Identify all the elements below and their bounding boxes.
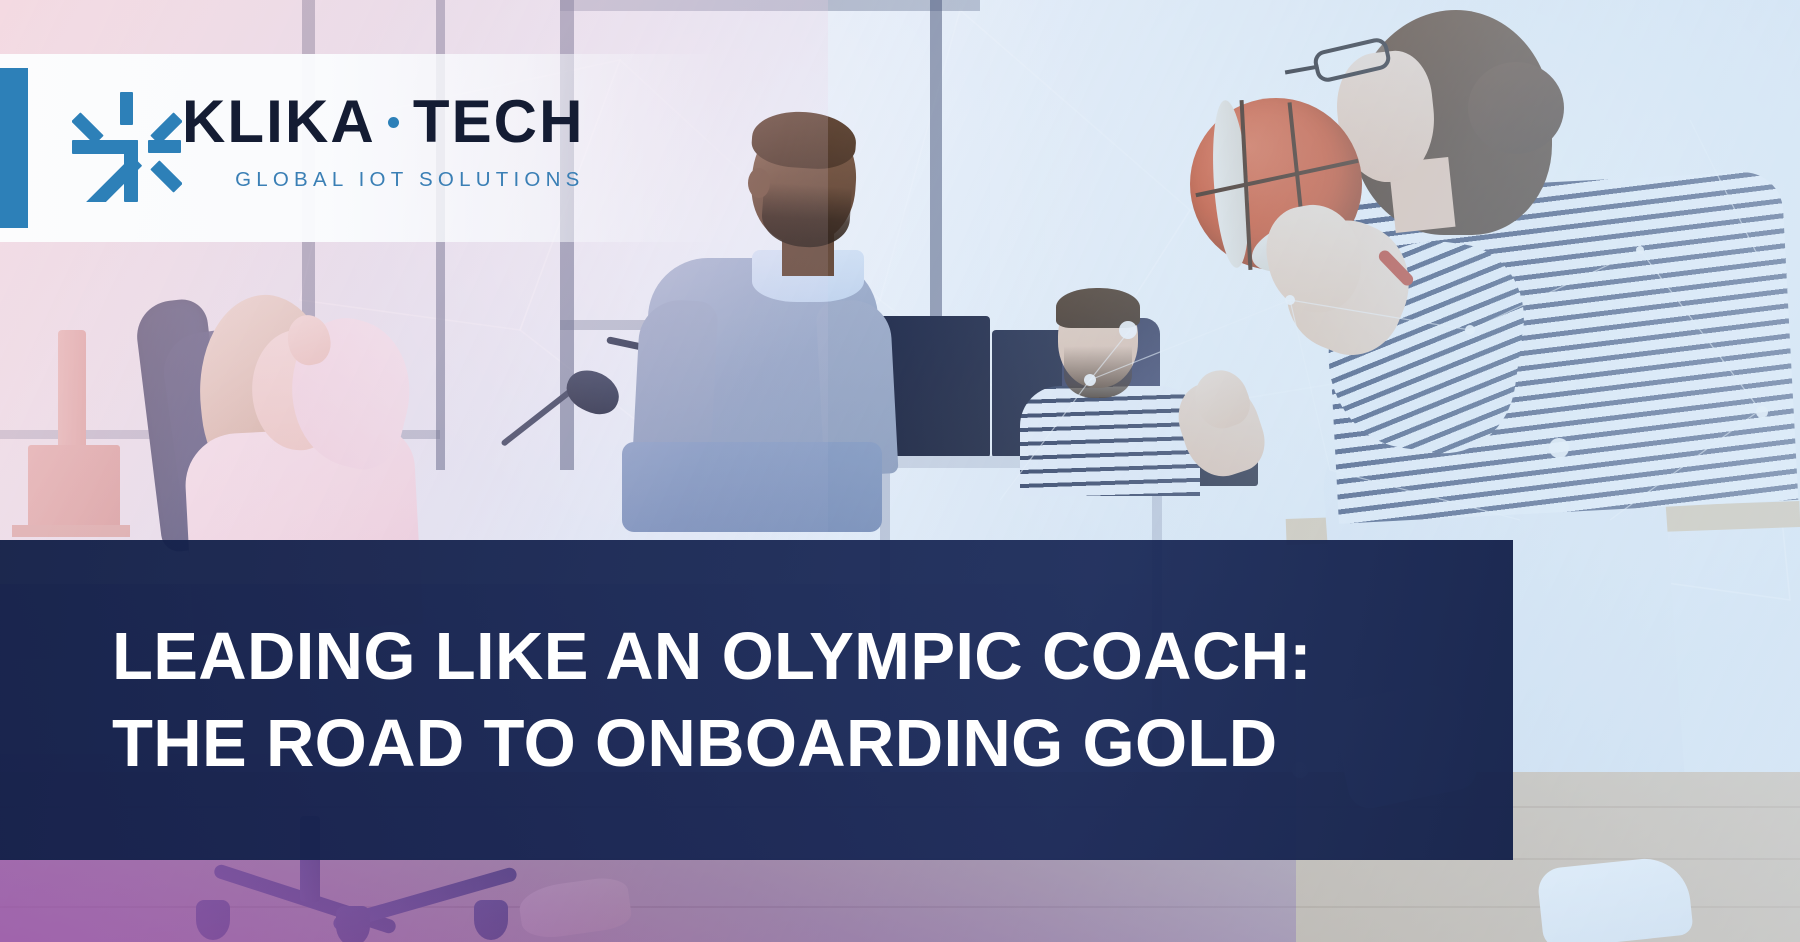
hero-banner: KLIKA TECH GLOBAL IOT SOLUTIONS LEADING …: [0, 0, 1800, 942]
logo-separator-dot: [388, 117, 399, 128]
logo-banner: KLIKA TECH GLOBAL IOT SOLUTIONS: [0, 54, 720, 242]
logo-brand-first: KLIKA: [182, 92, 376, 152]
accent-bar: [0, 68, 28, 228]
title-overlay: LEADING LIKE AN OLYMPIC COACH: THE ROAD …: [0, 540, 1513, 860]
logo-wordmark: KLIKA TECH: [182, 92, 585, 152]
logo-brand-second: TECH: [413, 92, 585, 152]
klika-burst-arrow-icon: [72, 90, 182, 202]
page-title-line-1: LEADING LIKE AN OLYMPIC COACH:: [112, 613, 1453, 700]
logo-tagline: GLOBAL IOT SOLUTIONS: [182, 168, 585, 192]
logo-text: KLIKA TECH GLOBAL IOT SOLUTIONS: [182, 92, 585, 192]
page-title-line-2: THE ROAD TO ONBOARDING GOLD: [112, 700, 1453, 787]
